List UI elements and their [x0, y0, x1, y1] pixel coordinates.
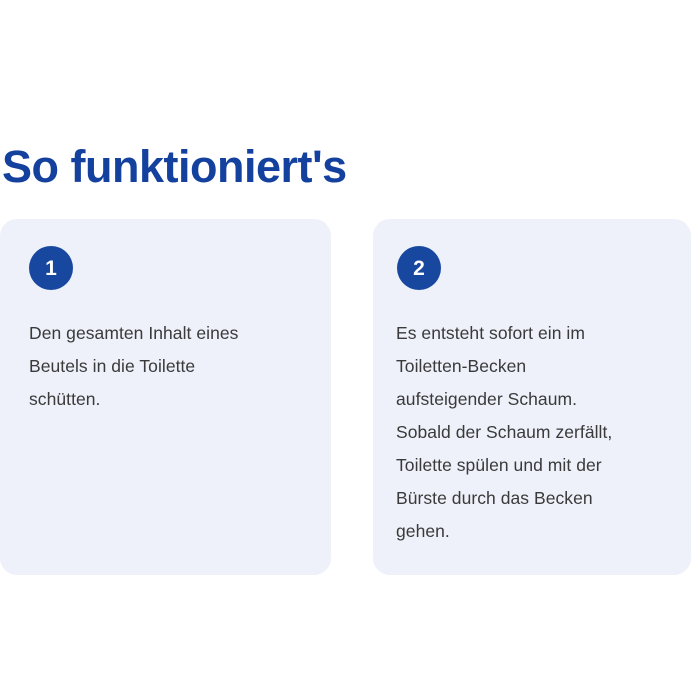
step-card-1: 1 Den gesamten Inhalt eines Beutels in d… [0, 219, 331, 575]
step-text-2: Es entsteht sofort ein im Toiletten-Beck… [396, 317, 668, 548]
step-text-line: Bürste durch das Becken [396, 482, 668, 515]
step-text-1: Den gesamten Inhalt eines Beutels in die… [29, 317, 301, 416]
step-text-line: aufsteigender Schaum. [396, 383, 668, 416]
step-text-line: Den gesamten Inhalt eines [29, 317, 301, 350]
step-card-2: 2 Es entsteht sofort ein im Toiletten-Be… [373, 219, 691, 575]
step-number-badge-1: 1 [29, 246, 73, 290]
step-text-line: Toilette spülen und mit der [396, 449, 668, 482]
page-root: So funktioniert's 1 Den gesamten Inhalt … [0, 0, 700, 700]
step-text-line: Es entsteht sofort ein im [396, 317, 668, 350]
step-text-line: schütten. [29, 383, 301, 416]
step-text-line: gehen. [396, 515, 668, 548]
page-title: So funktioniert's [2, 142, 347, 192]
step-number-badge-2: 2 [397, 246, 441, 290]
step-text-line: Toiletten-Becken [396, 350, 668, 383]
step-text-line: Sobald der Schaum zerfällt, [396, 416, 668, 449]
step-text-line: Beutels in die Toilette [29, 350, 301, 383]
